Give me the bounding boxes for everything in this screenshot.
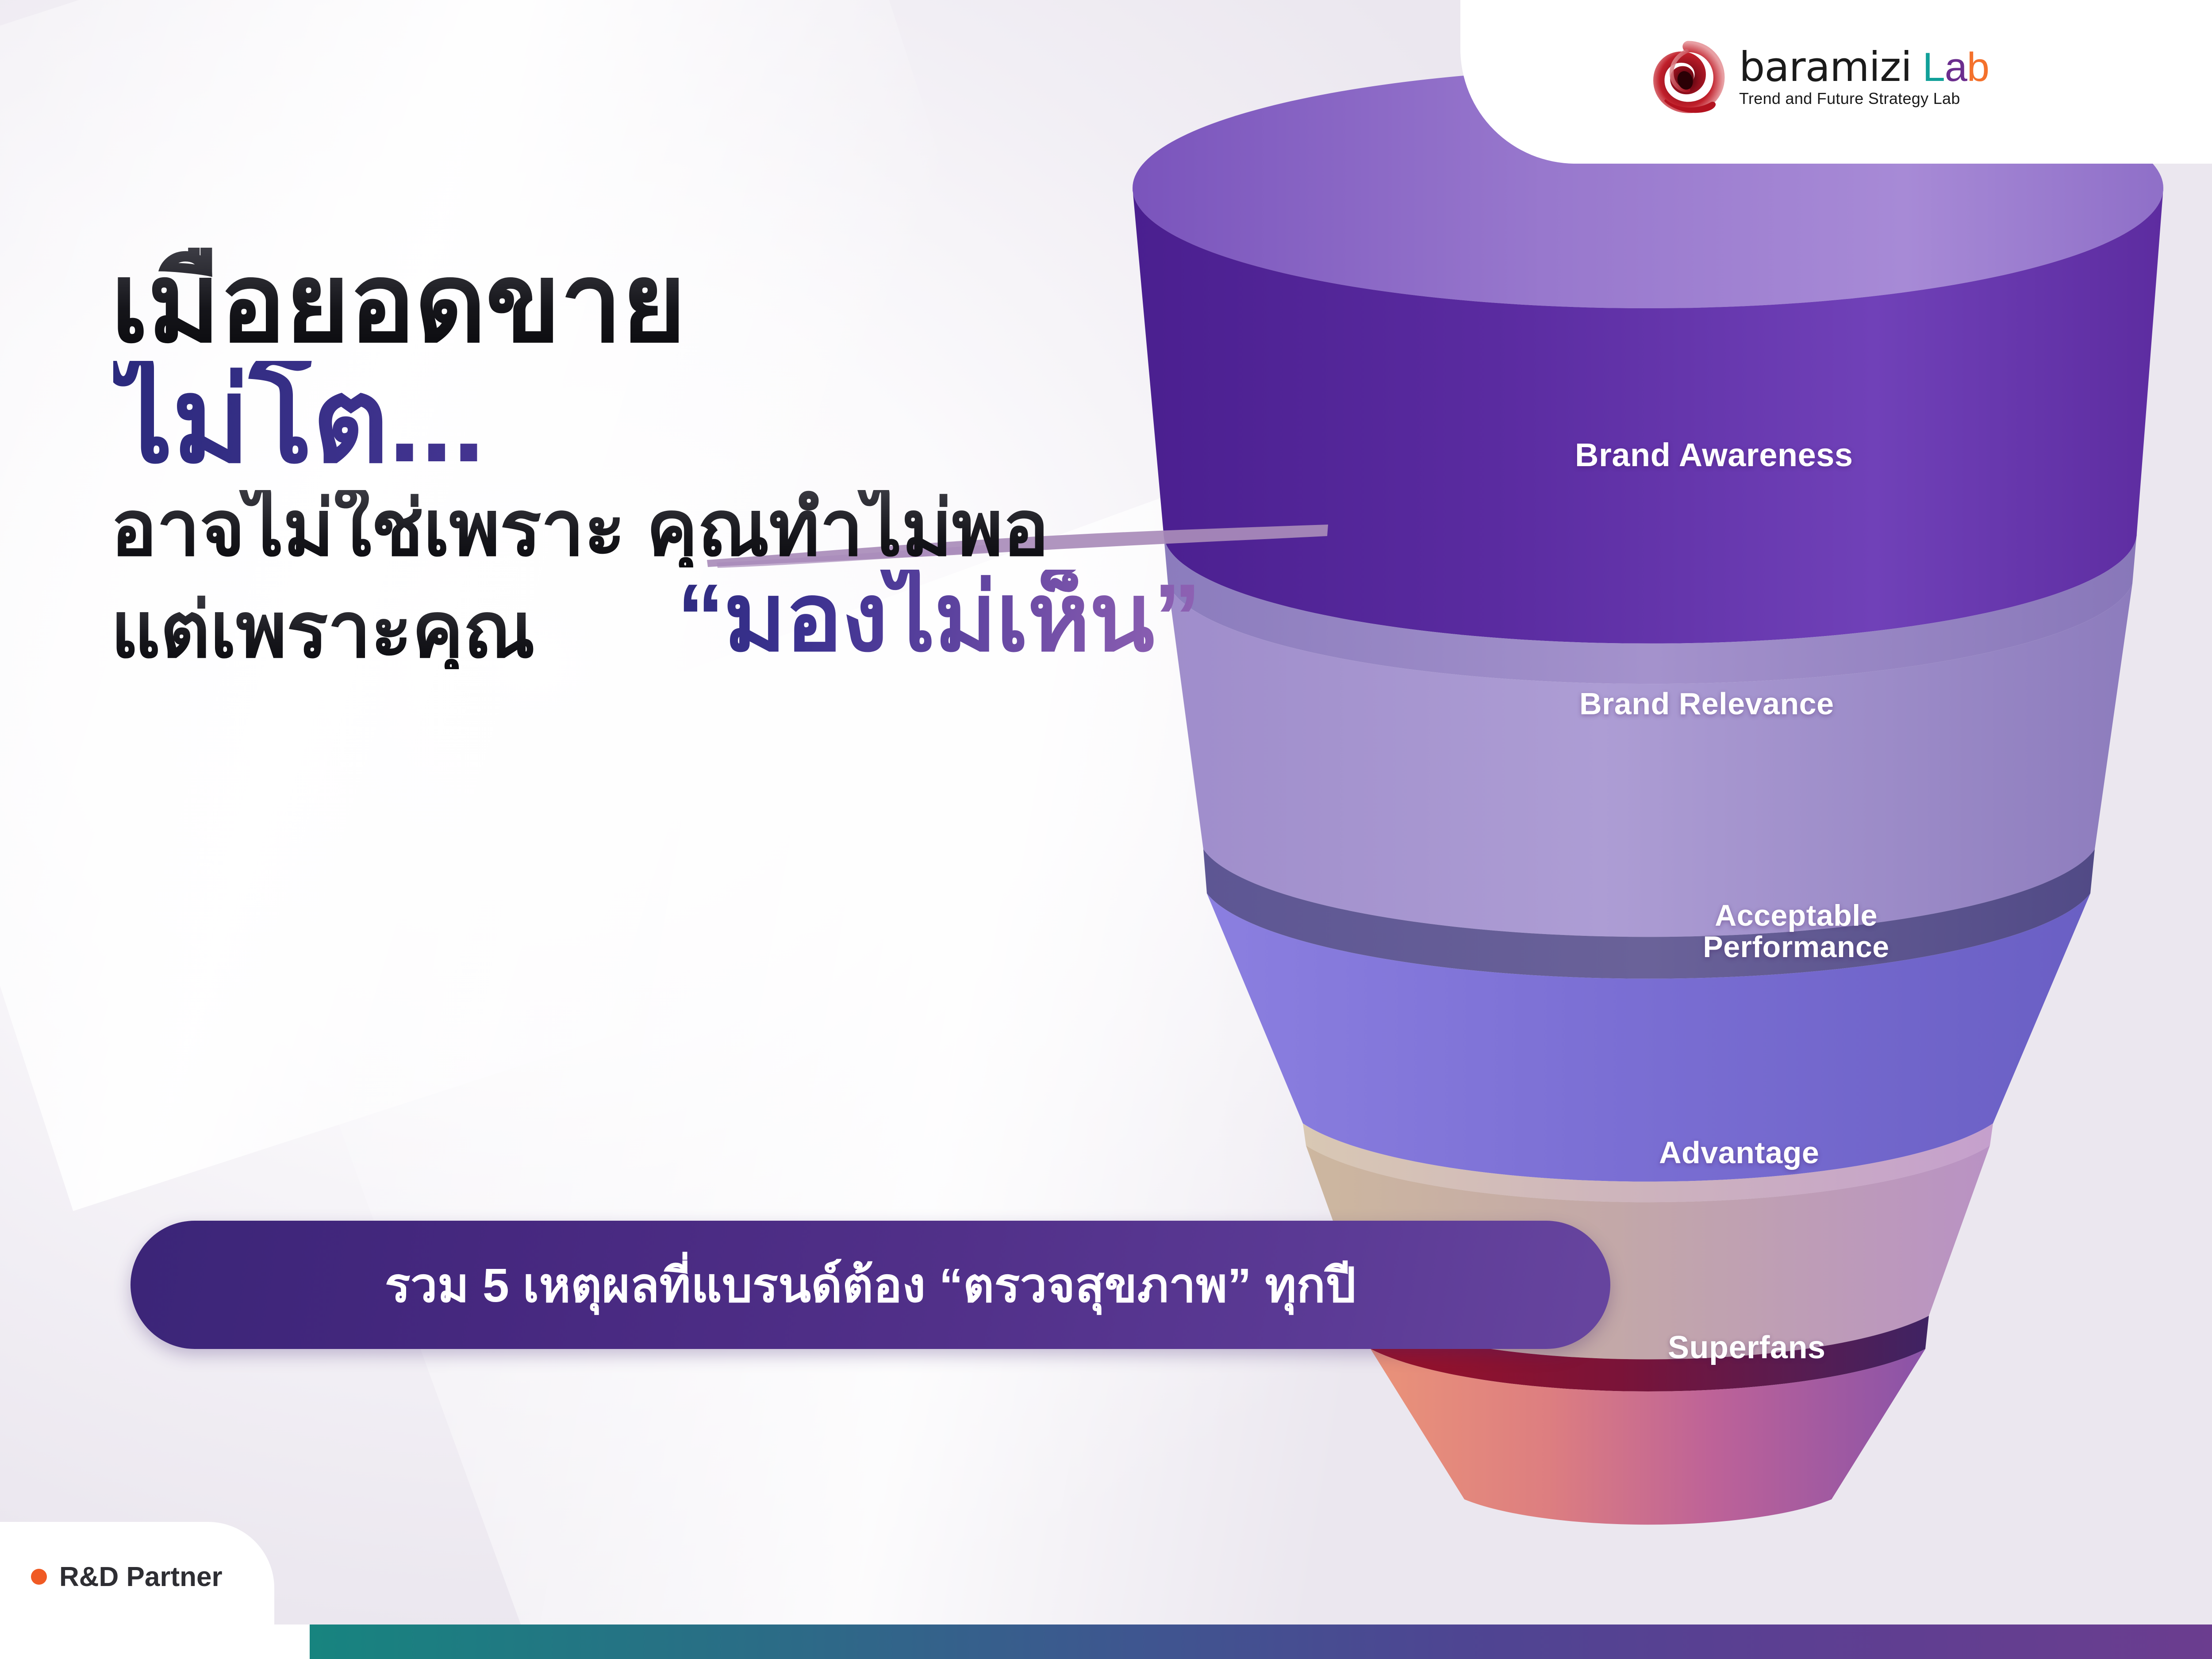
logo-lab-a: a xyxy=(1945,45,1967,90)
headline-line-4-quote: “มองไม่เห็น” xyxy=(677,570,1200,665)
bottom-gradient-bar xyxy=(0,1625,2212,1659)
orange-dot-icon xyxy=(31,1569,47,1585)
baramizi-swirl-mark xyxy=(1651,40,1726,115)
logo-lab-l: L xyxy=(1923,45,1945,90)
headline-line-1: เมื่อยอดขาย xyxy=(111,248,1504,358)
rd-partner-badge: R&D Partner xyxy=(0,1522,274,1659)
headline-line-3: อาจไม่ใช่เพราะ คุณทำไม่พอ xyxy=(111,490,1048,567)
headline-line-4-dark: แต่เพราะคุณ xyxy=(111,592,534,669)
poster-canvas: Brand Awareness Brand Relevance Acceptab… xyxy=(0,0,2212,1659)
headline-line-3-dark: อาจไม่ใช่เพราะ xyxy=(111,486,625,572)
headline-line-4-wrapper: แต่เพราะคุณ “มองไม่เห็น” xyxy=(111,583,1504,685)
logo-wordmark-main: baramizi xyxy=(1739,43,1912,91)
brand-logo: baramizi Lab Trend and Future Strategy L… xyxy=(1651,40,1989,115)
cta-pill-button[interactable]: รวม 5 เหตุผลที่แบรนด์ต้อง “ตรวจสุขภาพ” ท… xyxy=(131,1221,1610,1349)
logo-wordmark: baramizi Lab xyxy=(1739,47,1989,88)
logo-tagline: Trend and Future Strategy Lab xyxy=(1739,89,1989,108)
headline-block: เมื่อยอดขาย ไม่โต... อาจไม่ใช่เพราะ คุณท… xyxy=(111,248,1504,685)
headline-line-2: ไม่โต... xyxy=(113,361,1504,479)
rd-partner-row: R&D Partner xyxy=(31,1561,223,1593)
logo-lab-b: b xyxy=(1967,45,1989,90)
rd-partner-label: R&D Partner xyxy=(59,1561,223,1593)
logo-text-block: baramizi Lab Trend and Future Strategy L… xyxy=(1739,47,1989,108)
logo-card: baramizi Lab Trend and Future Strategy L… xyxy=(1460,0,2212,164)
headline-line-3-struck: คุณทำไม่พอ xyxy=(646,486,1049,572)
cta-label: รวม 5 เหตุผลที่แบรนด์ต้อง “ตรวจสุขภาพ” ท… xyxy=(385,1247,1356,1323)
